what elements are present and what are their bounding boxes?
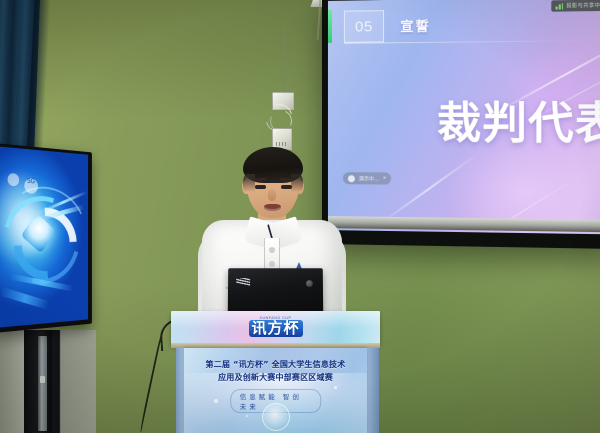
presenter-mouth: [264, 204, 281, 211]
podium-emblem-icon: [262, 403, 290, 431]
podium-graphic-dot: [334, 386, 337, 389]
tv-bezel: 5G: [0, 146, 88, 328]
slide-chapter-number-box: 05: [344, 10, 384, 43]
podium-top-panel: XUNFANG CUP 讯方杯: [171, 311, 380, 345]
cabinet-door-rail: [38, 336, 47, 431]
presenter-nose: [268, 189, 276, 201]
laptop-hinge-dot-icon: [306, 280, 313, 287]
laptop[interactable]: [228, 268, 323, 316]
tv-graphic-streak: [0, 287, 50, 310]
podium-side-right: [367, 348, 379, 433]
projected-slide: 05 宣誓 裁判代表宣 投影与共享中 演示中… ×: [328, 0, 600, 234]
shirt-button: [270, 262, 274, 266]
shirt-placket: [264, 238, 280, 272]
record-dot-icon: [348, 175, 355, 182]
laptop-brand-logo-icon: [236, 278, 250, 288]
close-icon[interactable]: ×: [383, 175, 386, 181]
presenter-sideburn-right: [291, 174, 303, 192]
slide-accent-bar: [328, 10, 332, 43]
slide-headline: 裁判代表宣: [437, 88, 600, 153]
tv-graphic-bubble: [8, 173, 20, 186]
projection-screen[interactable]: 05 宣誓 裁判代表宣 投影与共享中 演示中… ×: [322, 0, 600, 249]
tv-graphic-5g-bubble: 5G: [24, 178, 38, 194]
podium-front-panel: 第二届 “讯方杯” 全国大学生信息技术 应用及创新大赛中部赛区区域赛 信息赋能 …: [184, 348, 367, 433]
presentation-control-text: 演示中…: [359, 175, 379, 182]
wall-mounted-tv[interactable]: 5G: [0, 143, 92, 333]
cabinet-handle: [40, 376, 45, 383]
slide-chapter-number: 05: [355, 18, 373, 35]
projection-status-badge: 投影与共享中: [551, 0, 600, 12]
podium-brand-logo: XUNFANG CUP 讯方杯: [248, 316, 302, 338]
wall-cable: [284, 28, 285, 94]
podium-event-title-line1: 第二届 “讯方杯” 全国大学生信息技术: [184, 359, 367, 370]
presentation-room-photo: 5G 05 宣誓 裁判代表宣 投影与共享中: [0, 0, 600, 433]
presenter-sideburn-left: [243, 174, 255, 192]
podium-logo-text: 讯方杯: [248, 320, 302, 337]
signal-bars-icon: [556, 3, 563, 9]
slide-chapter-label: 宣誓: [400, 15, 431, 35]
presentation-control-overlay[interactable]: 演示中… ×: [343, 172, 391, 184]
shirt-button: [270, 248, 274, 252]
podium-event-title-line2: 应用及创新大赛中部赛区区域赛: [184, 372, 367, 383]
projection-status-text: 投影与共享中: [566, 2, 600, 10]
presenter-eye-right: [281, 185, 292, 189]
tv-screen: 5G: [0, 146, 88, 328]
podium-graphic-dot: [214, 399, 218, 403]
presenter-eye-left: [255, 185, 266, 189]
podium-graphic-dot: [246, 415, 248, 417]
screen-bottom-rail: [328, 216, 600, 232]
